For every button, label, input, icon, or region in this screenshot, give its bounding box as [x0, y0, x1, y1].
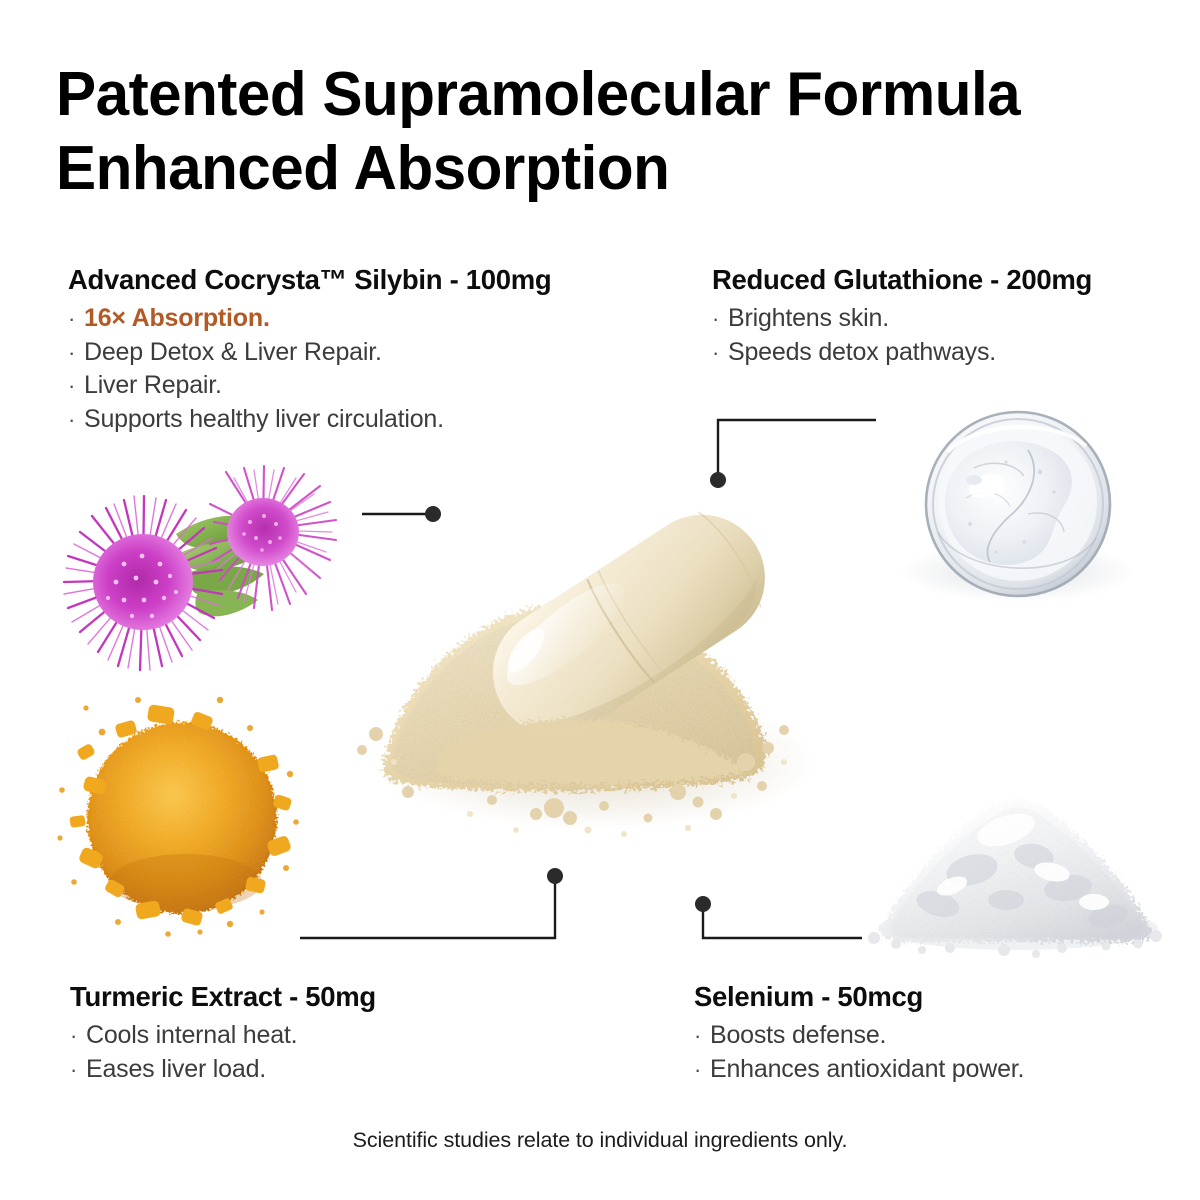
ingredient-block-reduced-glutathione: Reduced Glutathione - 200mg · Brightens …	[712, 263, 1200, 369]
bullet-text: Cools internal heat.	[86, 1019, 297, 1053]
turmeric-powder-mound	[50, 686, 312, 944]
list-item: · Cools internal heat.	[70, 1019, 590, 1053]
bullet-text: Boosts defense.	[710, 1019, 886, 1053]
list-item: · Supports healthy liver circulation.	[68, 403, 668, 437]
bullet-text: Brightens skin.	[728, 302, 889, 336]
bullet-text: Liver Repair.	[84, 369, 222, 403]
list-item: · Boosts defense.	[694, 1019, 1194, 1053]
list-item: · 16× Absorption.	[68, 302, 668, 336]
connector-turmeric	[300, 878, 555, 938]
ingredient-heading: Reduced Glutathione - 200mg	[712, 263, 1200, 297]
connector-selenium	[703, 906, 862, 938]
bullet-marker-icon: ·	[694, 1019, 710, 1053]
bullet-marker-icon: ·	[68, 336, 84, 370]
bullet-text: Supports healthy liver circulation.	[84, 403, 444, 437]
list-item: · Speeds detox pathways.	[712, 336, 1200, 370]
bullet-text: 16× Absorption.	[84, 302, 270, 336]
bullet-marker-icon: ·	[712, 302, 728, 336]
bullet-text: Speeds detox pathways.	[728, 336, 996, 370]
bullet-text: Enhances antioxidant power.	[710, 1053, 1024, 1087]
ingredient-bullet-list: · Boosts defense. · Enhances antioxidant…	[694, 1019, 1194, 1086]
list-item: · Deep Detox & Liver Repair.	[68, 336, 668, 370]
ingredient-block-cocrysta-silybin: Advanced Cocrysta™ Silybin - 100mg · 16×…	[68, 263, 668, 436]
bullet-marker-icon: ·	[68, 403, 84, 437]
list-item: · Enhances antioxidant power.	[694, 1053, 1194, 1087]
bullet-marker-icon: ·	[694, 1053, 710, 1087]
connector-dot-selenium	[695, 896, 711, 912]
list-item: · Liver Repair.	[68, 369, 668, 403]
disclaimer-text: Scientific studies relate to individual …	[0, 1128, 1200, 1153]
bullet-marker-icon: ·	[68, 302, 84, 336]
ingredient-heading: Turmeric Extract - 50mg	[70, 980, 590, 1014]
bullet-text: Deep Detox & Liver Repair.	[84, 336, 382, 370]
title-line-1: Patented Supramolecular Formula	[56, 58, 1133, 132]
ingredient-bullet-list: · Cools internal heat. · Eases liver loa…	[70, 1019, 590, 1086]
bullet-marker-icon: ·	[70, 1053, 86, 1087]
page-title: Patented Supramolecular Formula Enhanced…	[56, 58, 1166, 206]
ingredient-heading: Selenium - 50mcg	[694, 980, 1194, 1014]
bullet-text: Eases liver load.	[86, 1053, 266, 1087]
title-line-2: Enhanced Absorption	[56, 132, 1133, 206]
ingredient-heading: Advanced Cocrysta™ Silybin - 100mg	[68, 263, 668, 297]
ingredient-block-selenium: Selenium - 50mcg · Boosts defense. · Enh…	[694, 980, 1194, 1086]
list-item: · Eases liver load.	[70, 1053, 590, 1087]
milk-thistle-flowers	[58, 452, 338, 672]
infographic-page: Patented Supramolecular Formula Enhanced…	[0, 0, 1200, 1200]
ingredient-block-turmeric-extract: Turmeric Extract - 50mg · Cools internal…	[70, 980, 590, 1086]
thistle-flower-back	[210, 466, 336, 610]
bullet-marker-icon: ·	[68, 369, 84, 403]
list-item: · Brightens skin.	[712, 302, 1200, 336]
capsule-with-powder	[348, 462, 868, 882]
ingredient-bullet-list: · Brightens skin. · Speeds detox pathway…	[712, 302, 1200, 369]
ingredient-bullet-list: · 16× Absorption. · Deep Detox & Liver R…	[68, 302, 668, 436]
petri-dish-gel	[878, 406, 1168, 606]
selenium-powder-mound	[856, 778, 1176, 958]
bullet-marker-icon: ·	[712, 336, 728, 370]
bullet-marker-icon: ·	[70, 1019, 86, 1053]
